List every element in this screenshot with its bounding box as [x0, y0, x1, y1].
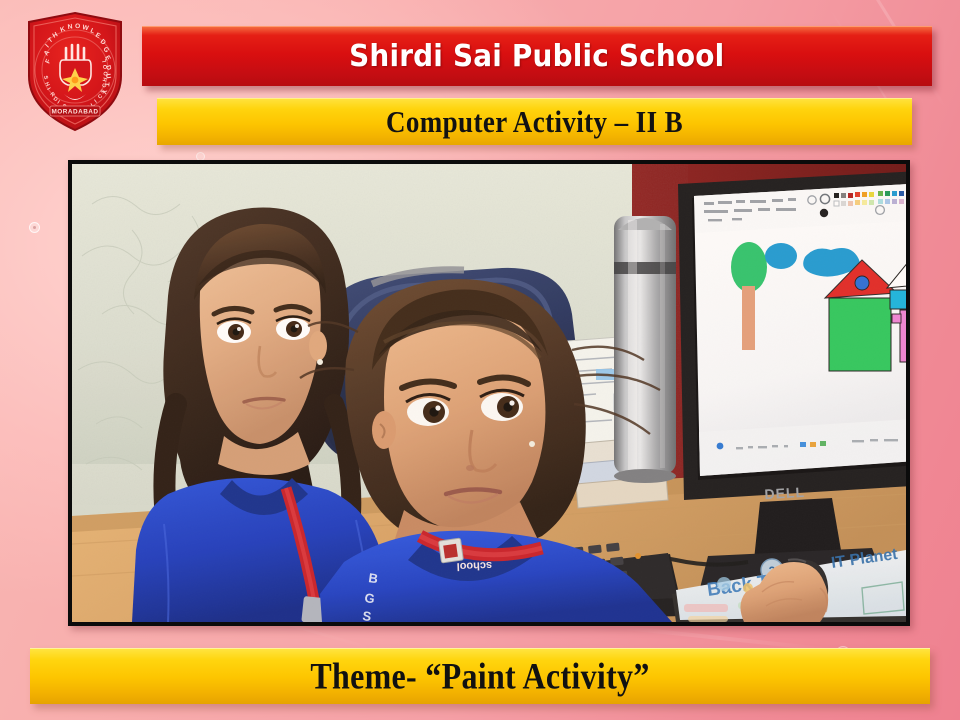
theme-banner: Theme- “Paint Activity” — [30, 648, 930, 704]
logo-city-label: MORADABAD — [51, 109, 98, 116]
svg-text:O: O — [75, 23, 81, 30]
svg-text:O: O — [103, 65, 109, 69]
activity-subtitle: Computer Activity – II B — [386, 105, 683, 140]
school-logo: F A I T H K N O W L E D G E D U T Y S — [22, 10, 128, 134]
school-crest-icon: F A I T H K N O W L E D G E D U T Y S — [22, 10, 128, 134]
slide-canvas: F A I T H K N O W L E D G E D U T Y S — [0, 0, 960, 720]
theme-label: Theme- “Paint Activity” — [310, 655, 649, 697]
classroom-photo-illustration: DELL — [72, 164, 906, 622]
activity-photo: DELL — [68, 160, 910, 626]
svg-text:N: N — [67, 23, 73, 31]
background-bubble — [29, 222, 40, 233]
subtitle-banner: Computer Activity – II B — [157, 98, 912, 145]
page-title: Shirdi Sai Public School — [349, 39, 724, 74]
title-banner: Shirdi Sai Public School — [142, 26, 932, 86]
